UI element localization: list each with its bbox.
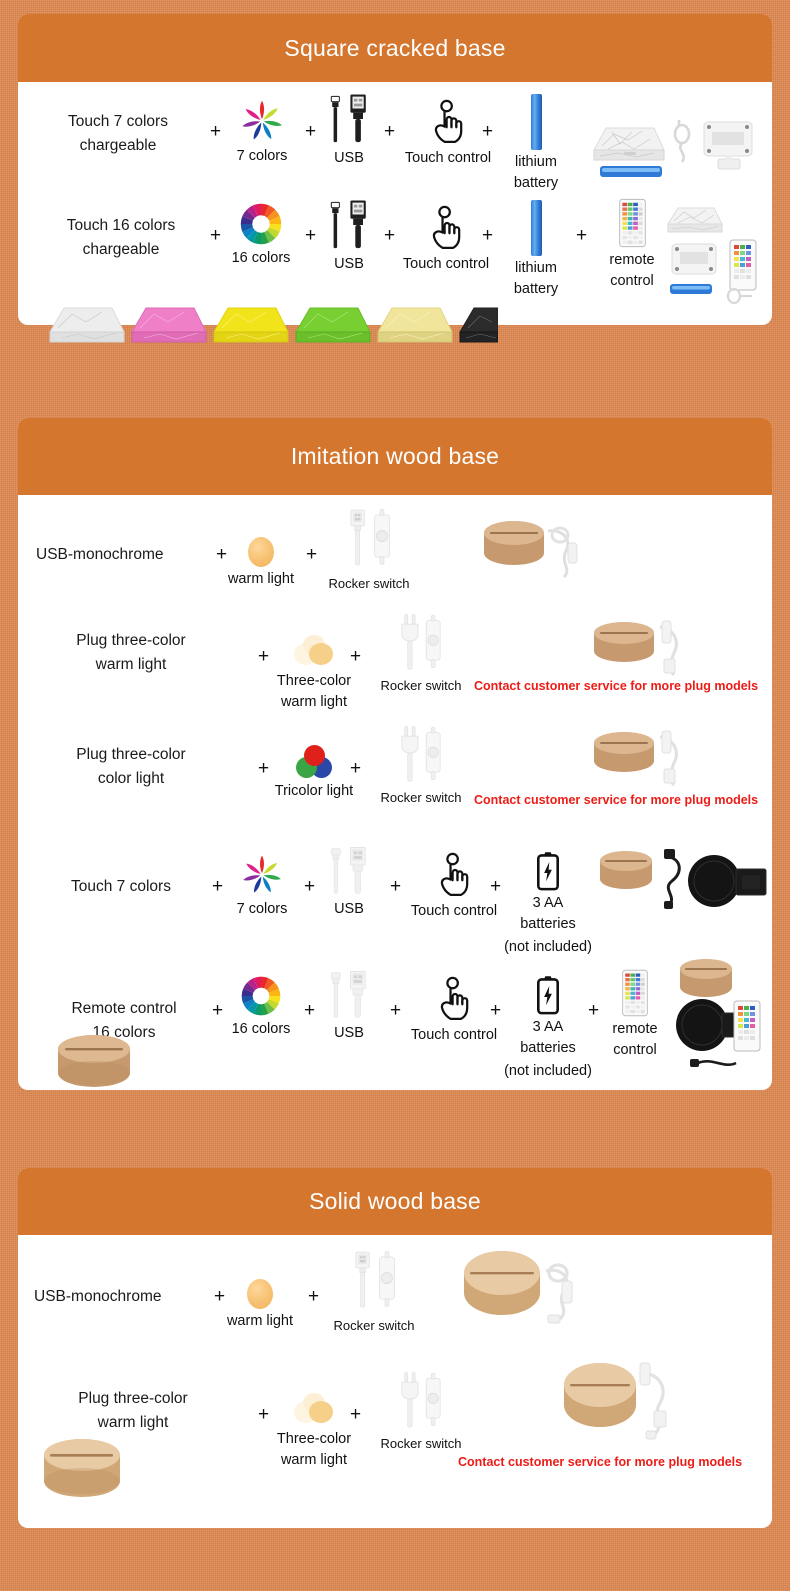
product-photo-imitation-wood-overhang (46, 1029, 156, 1105)
base-variant-cream (378, 308, 452, 342)
product-photo-solid-wood-plug-warm (558, 1359, 684, 1445)
item-usb: USB (318, 198, 380, 275)
row-plug-three-color-warm-light: Plug three-color warm light + Three-colo… (18, 607, 772, 721)
item-tricolor-light: Tricolor light (268, 745, 360, 802)
plug-models-note: Contact customer service for more plug m… (474, 793, 758, 807)
item-usb: USB (318, 92, 380, 169)
product-photo-solid-wood-usb (458, 1249, 590, 1331)
usb-cable-icon (321, 92, 377, 146)
section-solid-wood-base: Solid wood base USB-monochrome + warm li… (18, 1168, 772, 1528)
plug-models-note: Contact customer service for more plug m… (458, 1455, 742, 1469)
item-touch-control: Touch control (404, 849, 504, 922)
plus-sign: + (305, 122, 316, 141)
item-caption-rocker-switch: Rocker switch (368, 1435, 474, 1454)
item-caption-touch-control: Touch control (398, 148, 498, 169)
item-rocker-switch: Rocker switch (318, 507, 420, 594)
product-photo-svg (558, 1359, 684, 1445)
product-photo-svg (590, 727, 702, 789)
item-warm-light: warm light (216, 1279, 304, 1332)
plus-sign: + (482, 226, 493, 245)
plus-sign: + (305, 226, 316, 245)
row-label-plug-three-color-warm-light: Plug three-color warm light (40, 629, 222, 676)
product-photo-imitation-wood-usb (480, 515, 590, 583)
item-touch-control: Touch control (396, 202, 496, 275)
plus-sign: + (390, 877, 401, 896)
section-title-text: Square cracked base (284, 35, 505, 62)
rocker-switch-usb-icon (341, 507, 397, 573)
item-caption-aa-not-included: (not included) (504, 937, 592, 958)
color-variants-square-bases (28, 288, 498, 346)
usb-cable-white-icon (322, 969, 376, 1021)
plus-sign: + (210, 122, 221, 141)
plus-sign: + (384, 226, 395, 245)
warm-light-icon (247, 1279, 273, 1309)
item-three-color-warm-light: Three-color warm light (266, 1393, 362, 1471)
item-caption-three-color-warm-light: Three-color warm light (266, 1429, 362, 1471)
rocker-switch-plug-icon (394, 1371, 448, 1433)
plus-sign: + (576, 226, 587, 245)
item-caption-16-colors: 16 colors (218, 248, 304, 269)
item-caption-rocker-switch: Rocker switch (322, 1317, 426, 1336)
plus-sign: + (304, 877, 315, 896)
item-rocker-switch: Rocker switch (368, 1371, 474, 1454)
item-16-colors: 16 colors (218, 202, 304, 269)
rocker-switch-plug-icon (394, 725, 448, 787)
item-touch-control: Touch control (404, 973, 504, 1046)
section-square-cracked-base: Square cracked base Touch 7 colors charg… (18, 14, 772, 325)
remote-control-icon (619, 198, 646, 248)
item-caption-aa-batteries: 3 AA batteries (504, 893, 592, 935)
section-title-solid-wood-base: Solid wood base (18, 1168, 772, 1235)
row-usb-monochrome-solid: USB-monochrome + warm light + (18, 1235, 772, 1363)
plus-sign: + (390, 1001, 401, 1020)
item-caption-warm-light: warm light (218, 569, 304, 590)
plus-sign: + (212, 877, 223, 896)
section-title-square-cracked-base: Square cracked base (18, 14, 772, 82)
section-title-text: Imitation wood base (291, 443, 499, 470)
row-label-plug-three-color-color-light: Plug three-color color light (40, 743, 222, 790)
product-photo-svg (32, 1431, 152, 1517)
plus-sign: + (490, 877, 501, 896)
row-usb-monochrome: USB-monochrome + warm light + (18, 495, 772, 609)
usb-cable-icon (321, 198, 377, 252)
sixteen-colors-wheel-icon (240, 975, 282, 1017)
item-caption-lithium-battery: lithium battery (500, 152, 572, 194)
row-label-touch-7-colors: Touch 7 colors (36, 875, 206, 899)
product-photo-svg (596, 843, 772, 919)
item-three-color-warm-light: Three-color warm light (266, 635, 362, 713)
plus-sign: + (308, 1287, 319, 1306)
product-photo-imitation-wood-plug-color (590, 727, 702, 789)
base-variant-pink (132, 308, 206, 342)
item-caption-tricolor-light: Tricolor light (268, 781, 360, 802)
item-caption-aa-not-included: (not included) (504, 1061, 592, 1082)
item-caption-usb: USB (318, 148, 380, 169)
product-photo-square-white-7color (588, 102, 758, 182)
product-photo-svg (588, 102, 758, 182)
three-color-warm-light-icon (294, 1393, 334, 1427)
section-body-imitation-wood-base: USB-monochrome + warm light + (18, 495, 772, 1090)
item-caption-rocker-switch: Rocker switch (318, 575, 420, 594)
product-photo-svg (46, 1029, 156, 1105)
base-variant-black (460, 308, 498, 342)
lithium-battery-icon (531, 94, 542, 150)
item-caption-three-color-warm-light: Three-color warm light (266, 671, 362, 713)
row-label-touch-16-colors-chargeable: Touch 16 colors chargeable (38, 214, 204, 261)
plus-sign: + (482, 122, 493, 141)
base-variant-green (296, 308, 370, 342)
item-caption-7-colors: 7 colors (223, 899, 301, 920)
plus-sign: + (350, 759, 361, 778)
warm-light-icon (248, 537, 274, 567)
rocker-switch-plug-icon (394, 613, 448, 675)
row-touch-7-colors-chargeable: Touch 7 colors chargeable + (18, 82, 772, 190)
color-variants-svg (28, 288, 498, 346)
item-caption-touch-control: Touch control (396, 254, 496, 275)
tricolor-light-icon (296, 745, 332, 779)
product-photo-svg (458, 1249, 590, 1331)
item-usb: USB (318, 845, 380, 920)
item-remote-control: remote control (600, 969, 670, 1061)
plus-sign: + (588, 1001, 599, 1020)
rocker-switch-usb-icon (346, 1249, 402, 1315)
plus-sign: + (306, 545, 317, 564)
product-photo-svg (590, 617, 702, 679)
section-body-solid-wood-base: USB-monochrome + warm light + (18, 1235, 772, 1528)
section-body-square-cracked-base: Touch 7 colors chargeable + (18, 82, 772, 325)
product-photo-svg (662, 953, 772, 1081)
item-16-colors: 16 colors (218, 975, 304, 1040)
item-caption-rocker-switch: Rocker switch (368, 677, 474, 696)
remote-control-icon (622, 969, 648, 1017)
plus-sign: + (384, 122, 395, 141)
item-caption-warm-light: warm light (216, 1311, 304, 1332)
item-aa-batteries: 3 AA batteries (not included) (504, 851, 592, 958)
touch-control-hand-icon (433, 849, 475, 899)
row-touch-7-colors: Touch 7 colors + 7 (18, 833, 772, 961)
product-photo-svg (480, 515, 590, 583)
seven-colors-pinwheel-icon (240, 853, 284, 897)
item-caption-usb: USB (318, 899, 380, 920)
touch-control-hand-icon (425, 202, 467, 252)
item-rocker-switch: Rocker switch (368, 725, 474, 808)
item-aa-batteries: 3 AA batteries (not included) (504, 975, 592, 1082)
product-photo-imitation-wood-plug-warm (590, 617, 702, 679)
plus-sign: + (350, 1405, 361, 1424)
three-color-warm-light-icon (294, 635, 334, 669)
item-caption-aa-batteries: 3 AA batteries (504, 1017, 592, 1059)
product-photo-square-white-16color (658, 188, 770, 310)
product-photo-imitation-wood-touch7 (596, 843, 772, 919)
item-caption-16-colors: 16 colors (218, 1019, 304, 1040)
item-caption-rocker-switch: Rocker switch (368, 789, 474, 808)
plus-sign: + (350, 647, 361, 666)
row-plug-three-color-color-light: Plug three-color color light + Tricolor … (18, 721, 772, 833)
item-7-colors: 7 colors (223, 853, 301, 920)
item-caption-7-colors: 7 colors (223, 146, 301, 167)
item-lithium-battery: lithium battery (500, 200, 572, 300)
plus-sign: + (490, 1001, 501, 1020)
row-label-usb-monochrome: USB-monochrome (36, 543, 226, 567)
plug-models-note: Contact customer service for more plug m… (474, 679, 758, 693)
product-photo-svg (658, 188, 770, 310)
aa-battery-icon (537, 851, 559, 891)
product-photo-solid-wood-overhang (32, 1431, 152, 1517)
item-caption-usb: USB (318, 1023, 380, 1044)
lithium-battery-icon (531, 200, 542, 256)
row-label-plug-three-color-warm-light-solid: Plug three-color warm light (40, 1387, 226, 1434)
row-label-touch-7-colors-chargeable: Touch 7 colors chargeable (38, 110, 198, 157)
base-variant-white (50, 308, 124, 342)
plus-sign: + (304, 1001, 315, 1020)
item-rocker-switch: Rocker switch (368, 613, 474, 696)
item-lithium-battery: lithium battery (500, 94, 572, 194)
sixteen-colors-wheel-icon (239, 202, 283, 246)
section-imitation-wood-base: Imitation wood base USB-monochrome + war… (18, 418, 772, 1090)
item-caption-lithium-battery: lithium battery (500, 258, 572, 300)
row-label-usb-monochrome-solid: USB-monochrome (34, 1285, 226, 1309)
item-caption-remote-control: remote control (600, 1019, 670, 1061)
item-warm-light: warm light (218, 537, 304, 590)
item-caption-touch-control: Touch control (404, 1025, 504, 1046)
section-title-text: Solid wood base (309, 1188, 481, 1215)
usb-cable-white-icon (322, 845, 376, 897)
seven-colors-pinwheel-icon (239, 98, 285, 144)
item-rocker-switch: Rocker switch (322, 1249, 426, 1336)
section-title-imitation-wood-base: Imitation wood base (18, 418, 772, 495)
product-photo-imitation-wood-remote16 (662, 953, 772, 1081)
base-variant-yellow (214, 308, 288, 342)
touch-control-hand-icon (427, 96, 469, 146)
item-7-colors: 7 colors (223, 98, 301, 167)
item-caption-touch-control: Touch control (404, 901, 504, 922)
item-caption-usb: USB (318, 254, 380, 275)
item-usb: USB (318, 969, 380, 1044)
touch-control-hand-icon (433, 973, 475, 1023)
aa-battery-icon (537, 975, 559, 1015)
